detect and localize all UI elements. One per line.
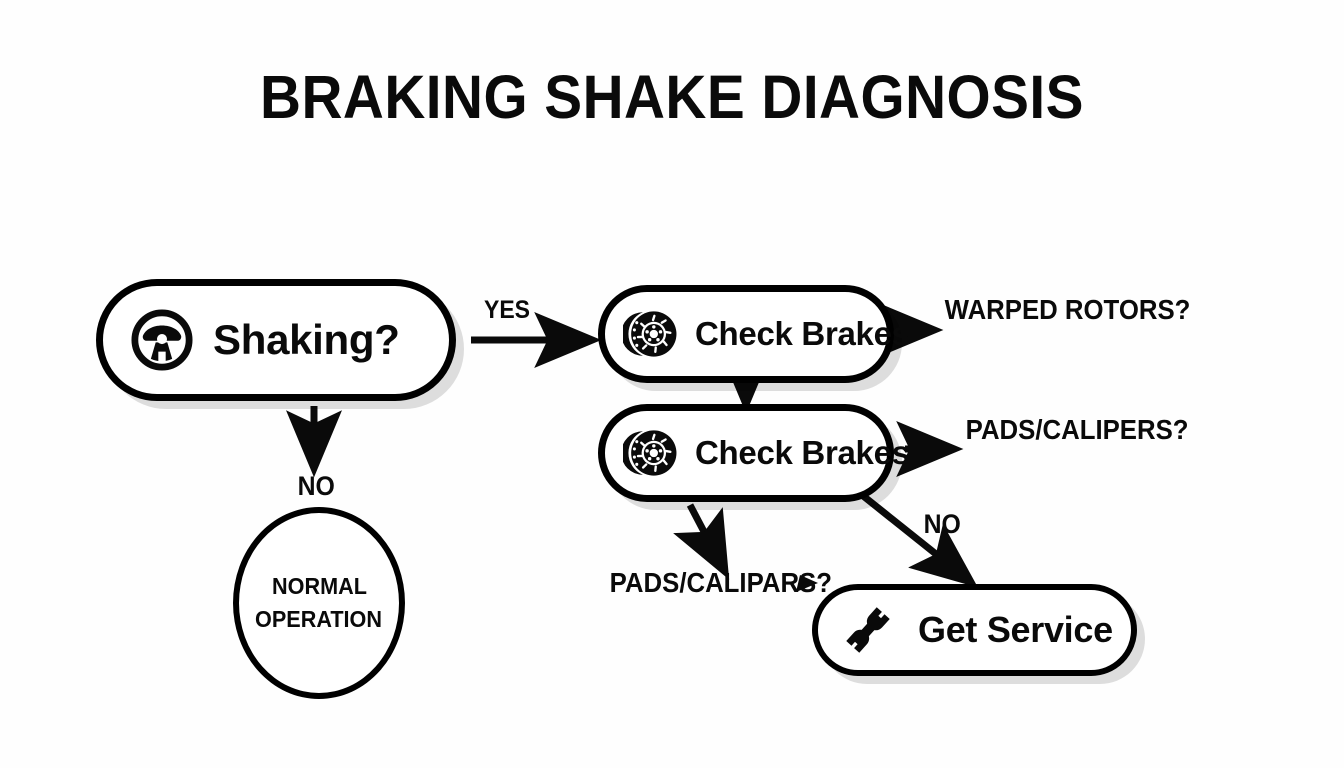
steering-wheel-icon — [131, 309, 193, 371]
node-shaking[interactable]: Shaking? — [96, 279, 456, 401]
brake-rotor-icon — [623, 424, 681, 482]
node-normal-operation-line2: OPERATION — [256, 603, 383, 636]
node-get-service[interactable]: Get Service — [812, 584, 1137, 676]
node-check-brakes-2[interactable]: Check Brakes — [598, 404, 894, 502]
node-check-brakes-2-label: Check Brakes — [695, 434, 910, 472]
edge-label-no-to-service: NO — [924, 509, 961, 540]
edge-label-warped-rotors: WARPED ROTORS? — [945, 294, 1191, 326]
page-title: BRAKING SHAKE DIAGNOSIS — [47, 62, 1297, 132]
node-shaking-label: Shaking? — [213, 316, 400, 364]
node-get-service-label: Get Service — [918, 609, 1113, 651]
edge-label-pads-calipers: PADS/CALIPERS? — [966, 414, 1189, 446]
edge-label-no-from-shaking: NO — [298, 471, 335, 502]
node-normal-operation-line1: NORMAL — [272, 570, 367, 603]
wrench-icon — [840, 602, 896, 658]
node-check-brakes-1-label: Check Brakes — [695, 315, 910, 353]
edge-label-pads-calipars: PADS/CALIPARS? — [610, 567, 832, 599]
arrow-check-brakes-2-to-pads-calipars — [690, 505, 722, 566]
flowchart-canvas: BRAKING SHAKE DIAGNOSIS — [0, 0, 1344, 768]
node-normal-operation[interactable]: NORMAL OPERATION — [233, 507, 405, 699]
edge-label-yes: YES — [484, 296, 530, 325]
brake-rotor-icon — [623, 305, 681, 363]
node-check-brakes-1[interactable]: Check Brakes — [598, 285, 894, 383]
